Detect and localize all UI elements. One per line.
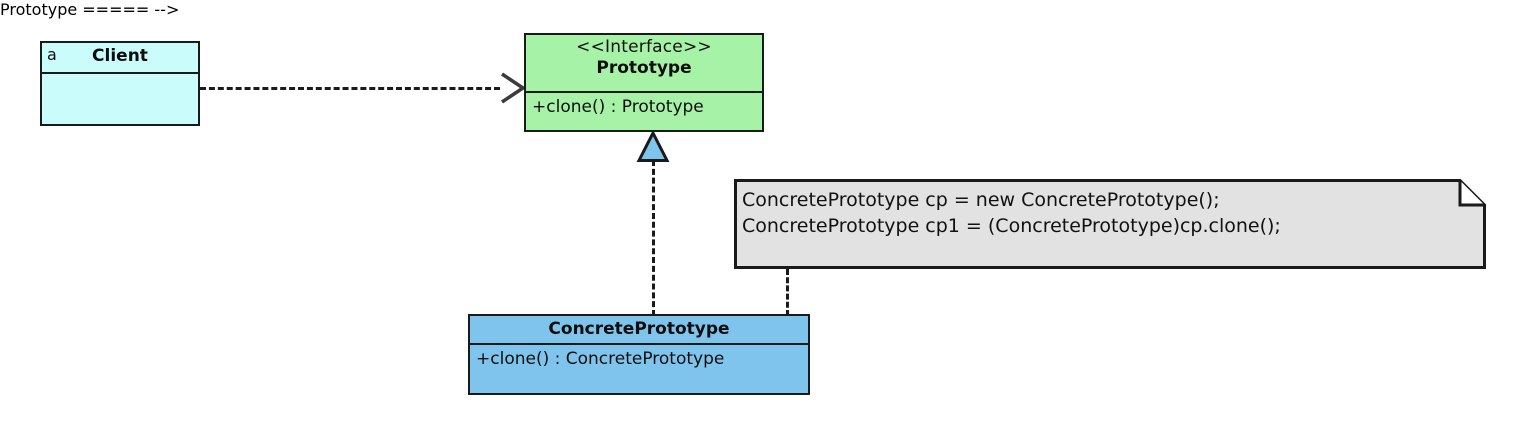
dependency-line-client-to-prototype <box>200 87 500 90</box>
class-members-concrete-prototype: +clone() : ConcretePrototype <box>470 345 808 393</box>
note-text-line-2: ConcretePrototype cp1 = (ConcretePrototy… <box>742 213 1476 239</box>
note-text-line-1: ConcretePrototype cp = new ConcreteProto… <box>742 187 1476 213</box>
class-members-client <box>42 74 198 124</box>
open-arrowhead-icon <box>492 70 528 106</box>
note-anchor-line <box>786 269 789 316</box>
class-header-client: a Client <box>42 43 198 74</box>
note-box[interactable]: ConcretePrototype cp = new ConcreteProto… <box>734 179 1486 269</box>
class-method-concrete-prototype-clone: +clone() : ConcretePrototype <box>476 348 804 370</box>
uml-diagram-canvas: a Client <<Interface>> Prototype +clone(… <box>0 0 1526 424</box>
class-name-client: Client <box>48 46 192 67</box>
class-corner-tag-client: a <box>47 45 57 64</box>
class-header-concrete-prototype: ConcretePrototype <box>470 316 808 345</box>
class-box-concrete-prototype[interactable]: ConcretePrototype +clone() : ConcretePro… <box>468 314 810 395</box>
class-header-prototype: <<Interface>> Prototype <box>526 35 762 93</box>
class-method-prototype-clone: +clone() : Prototype <box>532 96 758 118</box>
class-stereotype-prototype: <<Interface>> <box>532 37 756 58</box>
class-name-concrete-prototype: ConcretePrototype <box>476 319 802 340</box>
class-name-prototype: Prototype <box>532 58 756 79</box>
class-box-prototype[interactable]: <<Interface>> Prototype +clone() : Proto… <box>524 33 764 132</box>
class-box-client[interactable]: a Client <box>40 41 200 126</box>
realization-line-concrete-to-prototype <box>652 160 655 316</box>
hollow-triangle-arrowhead-icon <box>636 131 670 163</box>
class-members-prototype: +clone() : Prototype <box>526 93 762 130</box>
